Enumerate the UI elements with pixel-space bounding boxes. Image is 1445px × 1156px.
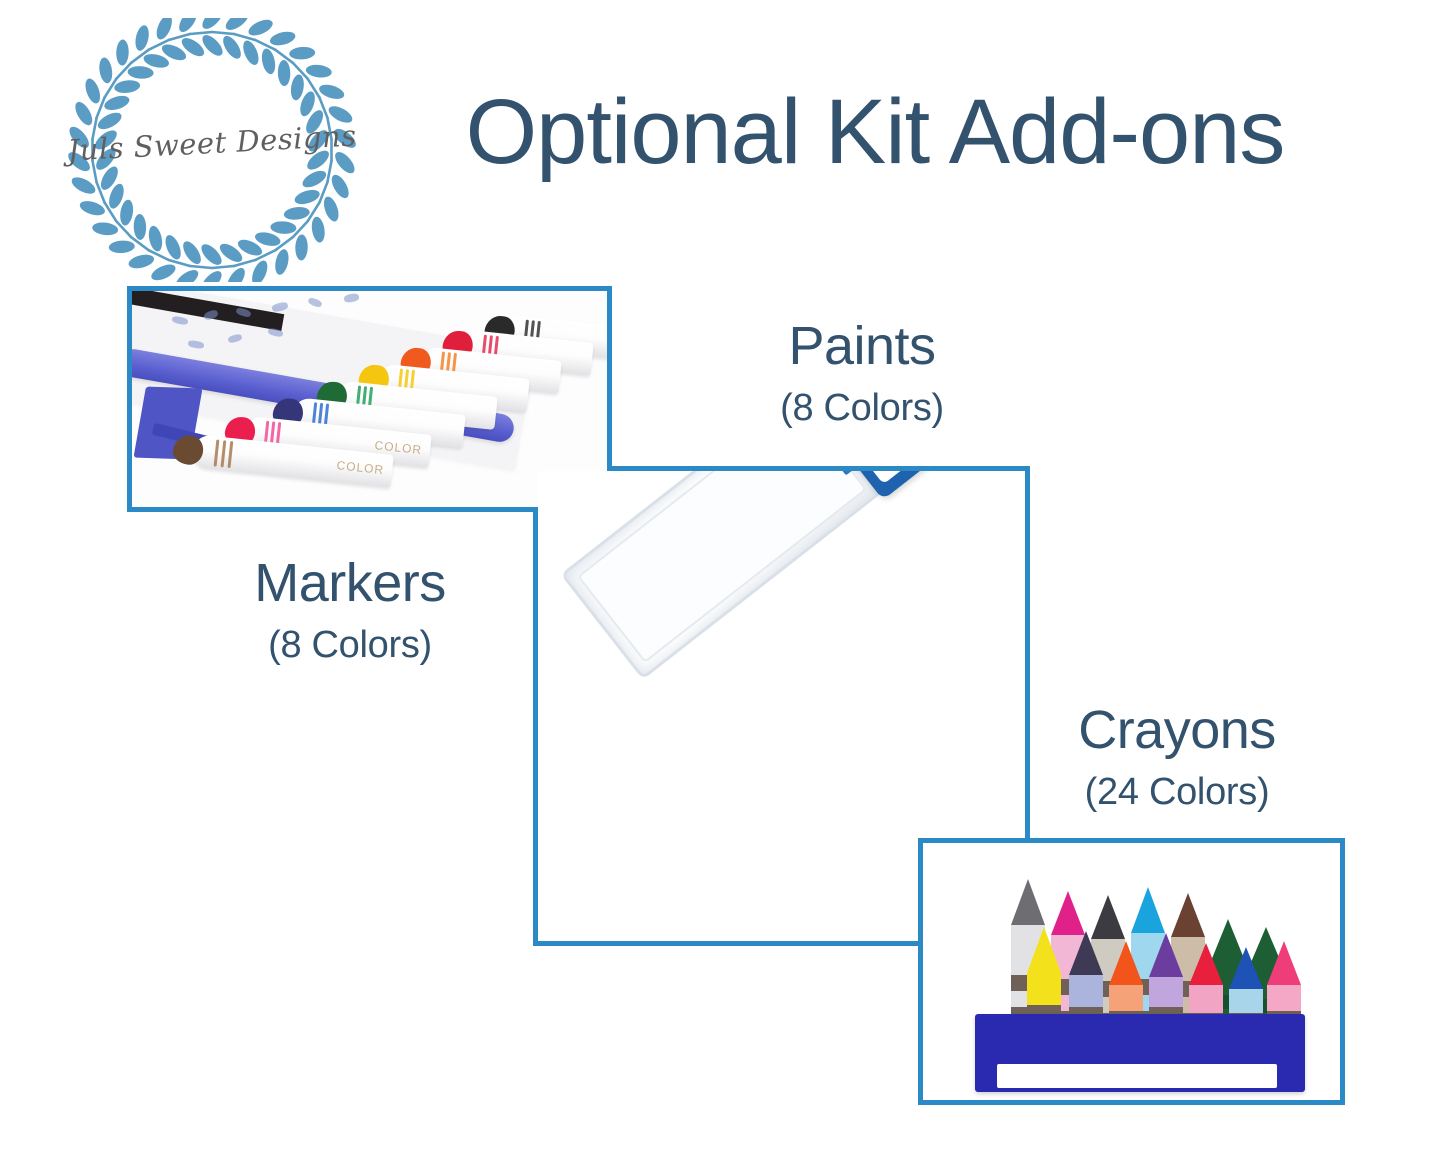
marker-barrel-word-2: COLOR: [336, 458, 385, 477]
crayons-label: Crayons (24 Colors): [1022, 702, 1332, 813]
crayons-photo: COLOR: [923, 843, 1340, 1100]
paints-label-title: Paints: [712, 318, 1012, 375]
paints-label-count: (8 Colors): [712, 389, 1012, 429]
crayons-frame-bottom: [918, 1100, 1345, 1105]
crayon-box: [975, 1014, 1305, 1092]
paints-label: Paints (8 Colors): [712, 318, 1012, 429]
markers-label-title: Markers: [200, 555, 500, 612]
crayons-frame-right: [1340, 838, 1345, 1105]
markers-label-count: (8 Colors): [200, 626, 500, 666]
crayons-label-count: (24 Colors): [1022, 773, 1332, 813]
markers-label: Markers (8 Colors): [200, 555, 500, 666]
brand-logo: Juls Sweet Designs: [62, 18, 362, 282]
poster-canvas: Juls Sweet Designs Optional Kit Add-ons: [0, 0, 1445, 1156]
page-title: Optional Kit Add-ons: [430, 86, 1320, 178]
paints-frame-bottom: [533, 941, 925, 946]
markers-photo: COLOR COLOR: [132, 291, 607, 507]
crayons-label-title: Crayons: [1022, 702, 1332, 759]
